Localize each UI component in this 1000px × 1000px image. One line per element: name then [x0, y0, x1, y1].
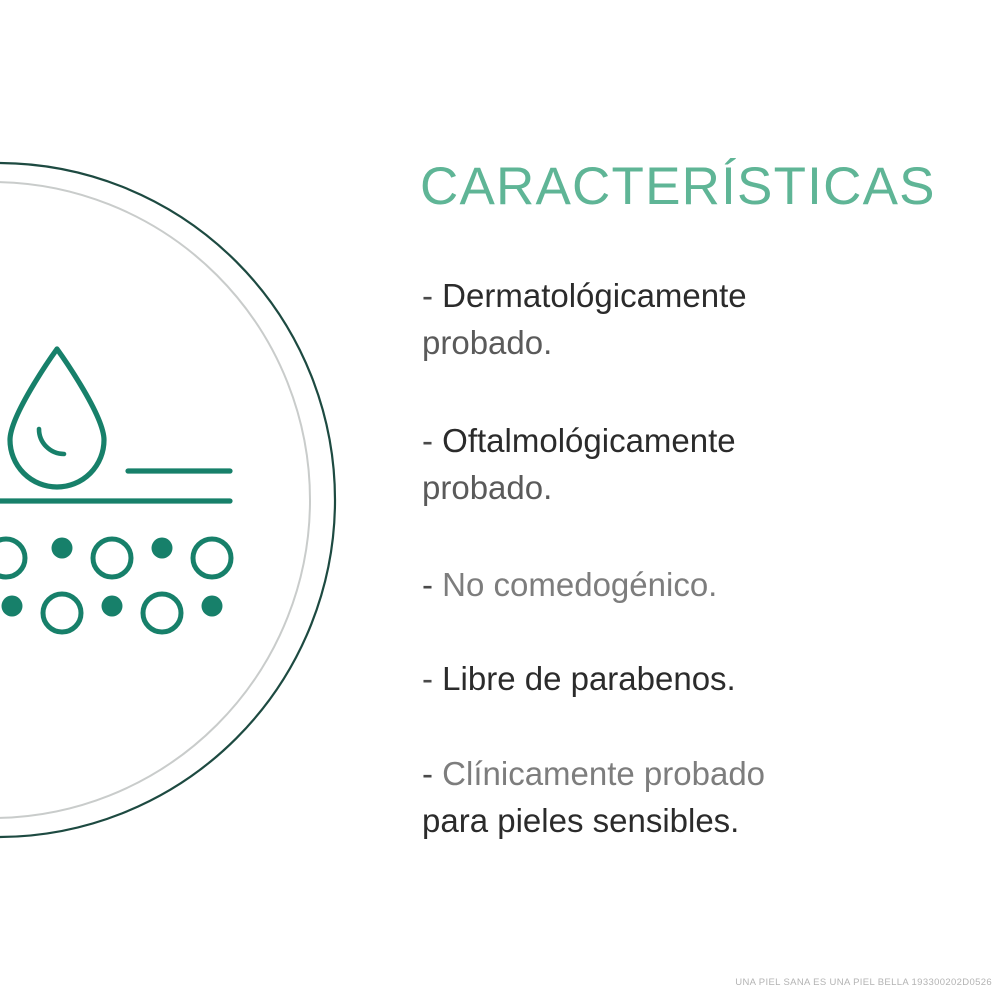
feature-line: - Libre de parabenos. — [422, 655, 997, 702]
feature-dash: - — [422, 277, 433, 314]
droplet-highlight-icon — [39, 429, 64, 454]
feature-item-clinically-tested-sensitive-skin: - Clínicamente probado para pieles sensi… — [422, 750, 997, 844]
feature-item-non-comedogenic: - No comedogénico. — [422, 561, 997, 608]
pore-ring — [143, 594, 181, 632]
feature-line: - Clínicamente probado — [422, 750, 997, 797]
feature-line: probado. — [422, 464, 997, 511]
feature-dash: - — [422, 422, 433, 459]
pore-ring — [193, 539, 231, 577]
feature-text: Libre de parabenos. — [442, 660, 736, 697]
water-droplet-icon — [10, 349, 104, 487]
feature-dash: - — [422, 660, 433, 697]
footer-code: 193300202D0526 — [912, 977, 992, 988]
feature-text: Oftalmológicamente — [442, 422, 735, 459]
product-badge — [0, 0, 420, 1000]
footer-tagline: UNA PIEL SANA ES UNA PIEL BELLA — [735, 977, 908, 988]
feature-text: Clínicamente probado — [442, 755, 765, 792]
feature-item-dermatologically-tested: - Dermatológicamente probado. — [422, 272, 997, 366]
pore-ring — [43, 594, 81, 632]
feature-item-paraben-free: - Libre de parabenos. — [422, 655, 997, 702]
feature-line: - Dermatológicamente — [422, 272, 997, 319]
feature-text: No comedogénico. — [442, 566, 717, 603]
page-title: CARACTERÍSTICAS — [420, 156, 936, 217]
pore-dot — [2, 596, 23, 617]
feature-text: Dermatológicamente — [442, 277, 746, 314]
feature-dash: - — [422, 566, 433, 603]
features-panel: CARACTERÍSTICAS - Dermatológicamente pro… — [418, 0, 1000, 1000]
pore-ring — [93, 539, 131, 577]
feature-dash: - — [422, 755, 433, 792]
feature-line: para pieles sensibles. — [422, 797, 997, 844]
footer-legal: UNA PIEL SANA ES UNA PIEL BELLA 19330020… — [735, 977, 992, 988]
pore-dot — [152, 538, 173, 559]
feature-line: probado. — [422, 319, 997, 366]
feature-item-ophthalmologically-tested: - Oftalmológicamente probado. — [422, 417, 997, 511]
pore-dot — [202, 596, 223, 617]
pore-ring — [0, 539, 25, 577]
pore-dot — [102, 596, 123, 617]
pore-dot — [52, 538, 73, 559]
feature-line: - No comedogénico. — [422, 561, 997, 608]
feature-line: - Oftalmológicamente — [422, 417, 997, 464]
